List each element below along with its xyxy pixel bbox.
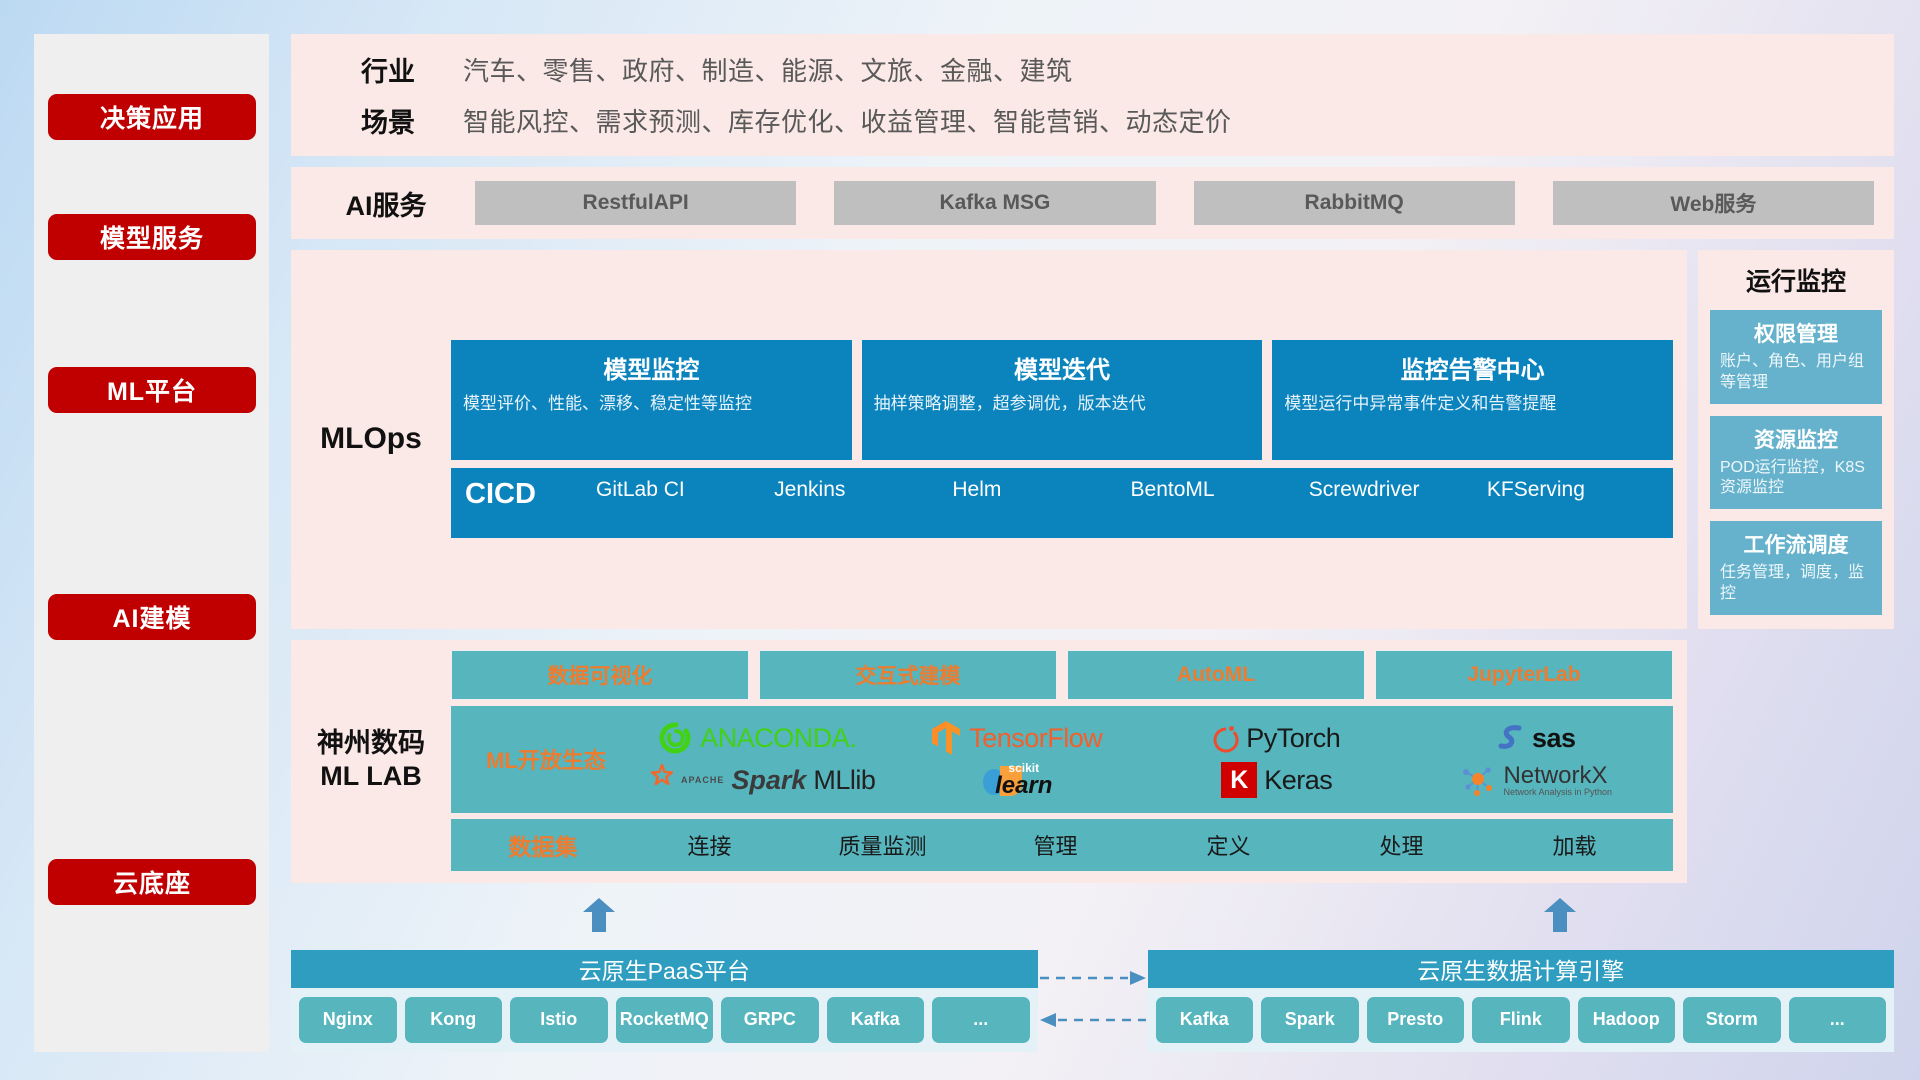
- engine-chip-kafka[interactable]: Kafka: [1156, 997, 1254, 1043]
- industry-values: 汽车、零售、政府、制造、能源、文旅、金融、建筑: [463, 51, 1073, 88]
- engine-up-arrow-icon: [1542, 898, 1578, 932]
- pytorch-logo: PyTorch: [1213, 722, 1340, 754]
- paas-chip-grpc[interactable]: GRPC: [721, 997, 819, 1043]
- rail-chip-ml-platform[interactable]: ML平台: [48, 367, 256, 413]
- ai-service-chip-web-service[interactable]: Web服务: [1553, 181, 1874, 225]
- tab-automl[interactable]: AutoML: [1067, 650, 1365, 700]
- cicd-item-bentoml[interactable]: BentoML: [1131, 478, 1303, 502]
- engine-chip-hadoop[interactable]: Hadoop: [1578, 997, 1676, 1043]
- card-title: 模型迭代: [874, 350, 1251, 385]
- engine-chip-more[interactable]: ...: [1789, 997, 1887, 1043]
- mlops-content: 模型监控 模型评价、性能、漂移、稳定性等监控 模型迭代 抽样策略调整，超参调优，…: [451, 340, 1673, 538]
- tab-data-visualization[interactable]: 数据可视化: [451, 650, 749, 700]
- ml-lab-content: 数据可视化 交互式建模 AutoML JupyterLab ML开放生态: [451, 650, 1673, 871]
- anaconda-logo: ANACONDA.: [659, 721, 856, 755]
- scenario-label: 场景: [313, 101, 463, 140]
- engine-chip-spark[interactable]: Spark: [1261, 997, 1359, 1043]
- dataset-title: 数据集: [463, 828, 623, 862]
- ml-logo-grid: ANACONDA. TensorFlow: [631, 718, 1663, 800]
- paas-up-arrow-icon: [581, 898, 617, 932]
- networkx-mark-icon: [1460, 763, 1496, 797]
- networkx-logo: NetworkX Network Analysis in Python: [1460, 763, 1612, 797]
- decision-application-band: 行业 汽车、零售、政府、制造、能源、文旅、金融、建筑 场景 智能风控、需求预测、…: [291, 34, 1894, 156]
- scenario-values: 智能风控、需求预测、库存优化、收益管理、智能营销、动态定价: [463, 102, 1232, 139]
- dataset-item-manage[interactable]: 管理: [969, 829, 1142, 861]
- industry-row: 行业 汽车、零售、政府、制造、能源、文旅、金融、建筑: [313, 50, 1872, 89]
- paas-chip-nginx[interactable]: Nginx: [299, 997, 397, 1043]
- engine-chip-presto[interactable]: Presto: [1367, 997, 1465, 1043]
- paas-chip-kafka[interactable]: Kafka: [827, 997, 925, 1043]
- anaconda-mark-icon: [659, 721, 693, 755]
- cicd-item-jenkins[interactable]: Jenkins: [774, 478, 946, 502]
- bidirectional-link: [1038, 970, 1148, 1052]
- rail-chip-label: 模型服务: [100, 219, 204, 255]
- rail-chip-cloud-foundation[interactable]: 云底座: [48, 859, 256, 905]
- keras-logo: K Keras: [1221, 762, 1332, 798]
- ai-service-chip-rabbitmq[interactable]: RabbitMQ: [1194, 181, 1515, 225]
- ml-lab-tab-list: 数据可视化 交互式建模 AutoML JupyterLab: [451, 650, 1673, 700]
- ai-service-chip-kafka-msg[interactable]: Kafka MSG: [834, 181, 1155, 225]
- mlops-band: MLOps 模型监控 模型评价、性能、漂移、稳定性等监控 模型迭代 抽样策略调整…: [291, 250, 1687, 629]
- cicd-title: CICD: [465, 478, 590, 511]
- layer-rail: 决策应用 模型服务 ML平台 AI建模 云底座: [34, 34, 269, 1052]
- card-title: 监控告警中心: [1284, 350, 1661, 385]
- cicd-bar: CICD GitLab CI Jenkins Helm BentoML Scre…: [451, 468, 1673, 538]
- runtime-monitoring-panel: 运行监控 权限管理 账户、角色、用户组等管理 资源监控 POD运行监控，K8S资…: [1698, 250, 1894, 629]
- spark-star-icon: [640, 763, 674, 797]
- rail-chip-model-service[interactable]: 模型服务: [48, 214, 256, 260]
- arrow-left-icon: [1038, 1012, 1148, 1028]
- engine-chip-storm[interactable]: Storm: [1683, 997, 1781, 1043]
- runtime-monitoring-title: 运行监控: [1710, 262, 1882, 298]
- keras-mark-icon: K: [1221, 762, 1257, 798]
- scenario-row: 场景 智能风控、需求预测、库存优化、收益管理、智能营销、动态定价: [313, 101, 1872, 140]
- cicd-item-kfserving[interactable]: KFServing: [1487, 478, 1659, 502]
- scikit-learn-logo: scikit learn: [982, 760, 1052, 800]
- networkx-tagline: Network Analysis in Python: [1503, 788, 1612, 797]
- dataset-item-process[interactable]: 处理: [1315, 829, 1488, 861]
- keras-wordmark: Keras: [1264, 765, 1332, 796]
- data-engine-block: 云原生数据计算引擎 Kafka Spark Presto Flink Hadoo…: [1148, 950, 1895, 1052]
- dataset-item-load[interactable]: 加载: [1488, 829, 1661, 861]
- card-desc: 任务管理，调度，监控: [1720, 563, 1872, 605]
- ml-lab-label-line1: 神州数码: [291, 727, 451, 761]
- ml-open-ecosystem-label: ML开放生态: [461, 743, 631, 775]
- ai-service-chip-restfulapi[interactable]: RestfulAPI: [475, 181, 796, 225]
- paas-chip-more[interactable]: ...: [932, 997, 1030, 1043]
- paas-chip-istio[interactable]: Istio: [510, 997, 608, 1043]
- rail-chip-label: 决策应用: [100, 99, 204, 135]
- card-desc: 模型运行中异常事件定义和告警提醒: [1284, 393, 1661, 416]
- card-desc: 账户、角色、用户组等管理: [1720, 352, 1872, 394]
- main-column: 行业 汽车、零售、政府、制造、能源、文旅、金融、建筑 场景 智能风控、需求预测、…: [291, 34, 1894, 1052]
- sas-logo: sas: [1497, 723, 1576, 754]
- card-title: 资源监控: [1720, 424, 1872, 454]
- spark-mllib-logo: APACHE Spark MLlib: [640, 763, 875, 797]
- tensorflow-mark-icon: [932, 720, 962, 756]
- mlops-card-list: 模型监控 模型评价、性能、漂移、稳定性等监控 模型迭代 抽样策略调整，超参调优，…: [451, 340, 1673, 460]
- tensorflow-logo: TensorFlow: [932, 720, 1102, 756]
- ai-service-label: AI服务: [311, 184, 461, 223]
- anaconda-wordmark: ANACONDA.: [700, 723, 856, 754]
- rail-chip-ai-modeling[interactable]: AI建模: [48, 594, 256, 640]
- cloud-foundation-row: 云原生PaaS平台 Nginx Kong Istio RocketMQ GRPC…: [291, 894, 1894, 1052]
- card-title: 模型监控: [463, 350, 840, 385]
- ai-modeling-row: 神州数码 ML LAB 数据可视化 交互式建模 AutoML JupyterLa…: [291, 640, 1894, 883]
- ml-platform-row: MLOps 模型监控 模型评价、性能、漂移、稳定性等监控 模型迭代 抽样策略调整…: [291, 250, 1894, 629]
- paas-title: 云原生PaaS平台: [291, 950, 1038, 988]
- architecture-diagram: 决策应用 模型服务 ML平台 AI建模 云底座 行业 汽车、零售、政府、制造、能…: [0, 0, 1920, 1080]
- cicd-item-helm[interactable]: Helm: [952, 478, 1124, 502]
- learn-word: learn: [995, 774, 1052, 798]
- dataset-item-quality[interactable]: 质量监测: [796, 829, 969, 861]
- industry-label: 行业: [313, 50, 463, 89]
- card-desc: POD运行监控，K8S资源监控: [1720, 458, 1872, 500]
- ml-lab-band: 神州数码 ML LAB 数据可视化 交互式建模 AutoML JupyterLa…: [291, 640, 1687, 883]
- sas-mark-icon: [1497, 723, 1525, 753]
- dataset-bar: 数据集 连接 质量监测 管理 定义 处理 加载: [451, 819, 1673, 871]
- spark-wordmark: Spark: [731, 765, 806, 796]
- rail-chip-label: 云底座: [113, 864, 191, 900]
- rail-chip-label: AI建模: [112, 599, 191, 635]
- rail-chip-label: ML平台: [107, 372, 197, 408]
- cicd-item-screwdriver[interactable]: Screwdriver: [1309, 478, 1481, 502]
- mlops-card-model-iteration[interactable]: 模型迭代 抽样策略调整，超参调优，版本迭代: [862, 340, 1263, 460]
- rail-chip-decision-application[interactable]: 决策应用: [48, 94, 256, 140]
- ai-service-band: AI服务 RestfulAPI Kafka MSG RabbitMQ Web服务: [291, 167, 1894, 239]
- card-desc: 模型评价、性能、漂移、稳定性等监控: [463, 393, 840, 416]
- engine-chip-flink[interactable]: Flink: [1472, 997, 1570, 1043]
- paas-chip-kong[interactable]: Kong: [405, 997, 503, 1043]
- arrow-right-icon: [1038, 970, 1148, 986]
- cicd-item-gitlab-ci[interactable]: GitLab CI: [596, 478, 768, 502]
- ai-service-chip-list: RestfulAPI Kafka MSG RabbitMQ Web服务: [475, 181, 1874, 225]
- card-title: 权限管理: [1720, 318, 1872, 348]
- mllib-wordmark: MLlib: [813, 765, 875, 796]
- tab-interactive-modeling[interactable]: 交互式建模: [759, 650, 1057, 700]
- paas-chip-list: Nginx Kong Istio RocketMQ GRPC Kafka ...: [291, 988, 1038, 1052]
- spark-apache-word: APACHE: [681, 775, 724, 785]
- ml-lab-label: 神州数码 ML LAB: [291, 727, 451, 795]
- mlops-card-alert-center[interactable]: 监控告警中心 模型运行中异常事件定义和告警提醒: [1272, 340, 1673, 460]
- monitor-card-resource[interactable]: 资源监控 POD运行监控，K8S资源监控: [1710, 416, 1882, 510]
- data-engine-chip-list: Kafka Spark Presto Flink Hadoop Storm ..…: [1148, 988, 1895, 1052]
- mlops-card-model-monitoring[interactable]: 模型监控 模型评价、性能、漂移、稳定性等监控: [451, 340, 852, 460]
- data-engine-title: 云原生数据计算引擎: [1148, 950, 1895, 988]
- monitor-card-workflow[interactable]: 工作流调度 任务管理，调度，监控: [1710, 521, 1882, 615]
- ml-open-ecosystem: ML开放生态 ANACONDA.: [451, 706, 1673, 813]
- ml-lab-label-line2: ML LAB: [291, 760, 451, 794]
- pytorch-wordmark: PyTorch: [1246, 723, 1340, 754]
- dataset-item-define[interactable]: 定义: [1142, 829, 1315, 861]
- networkx-wordmark: NetworkX: [1503, 764, 1612, 788]
- tensorflow-wordmark: TensorFlow: [969, 723, 1102, 754]
- sas-wordmark: sas: [1532, 723, 1576, 754]
- monitor-card-permission[interactable]: 权限管理 账户、角色、用户组等管理: [1710, 310, 1882, 404]
- dataset-item-connect[interactable]: 连接: [623, 829, 796, 861]
- tab-jupyterlab[interactable]: JupyterLab: [1375, 650, 1673, 700]
- paas-block: 云原生PaaS平台 Nginx Kong Istio RocketMQ GRPC…: [291, 950, 1038, 1052]
- pytorch-mark-icon: [1213, 722, 1239, 754]
- card-title: 工作流调度: [1720, 529, 1872, 559]
- paas-chip-rocketmq[interactable]: RocketMQ: [616, 997, 714, 1043]
- mlops-label: MLOps: [291, 422, 451, 456]
- lab-row-spacer: [1698, 640, 1894, 883]
- card-desc: 抽样策略调整，超参调优，版本迭代: [874, 393, 1251, 416]
